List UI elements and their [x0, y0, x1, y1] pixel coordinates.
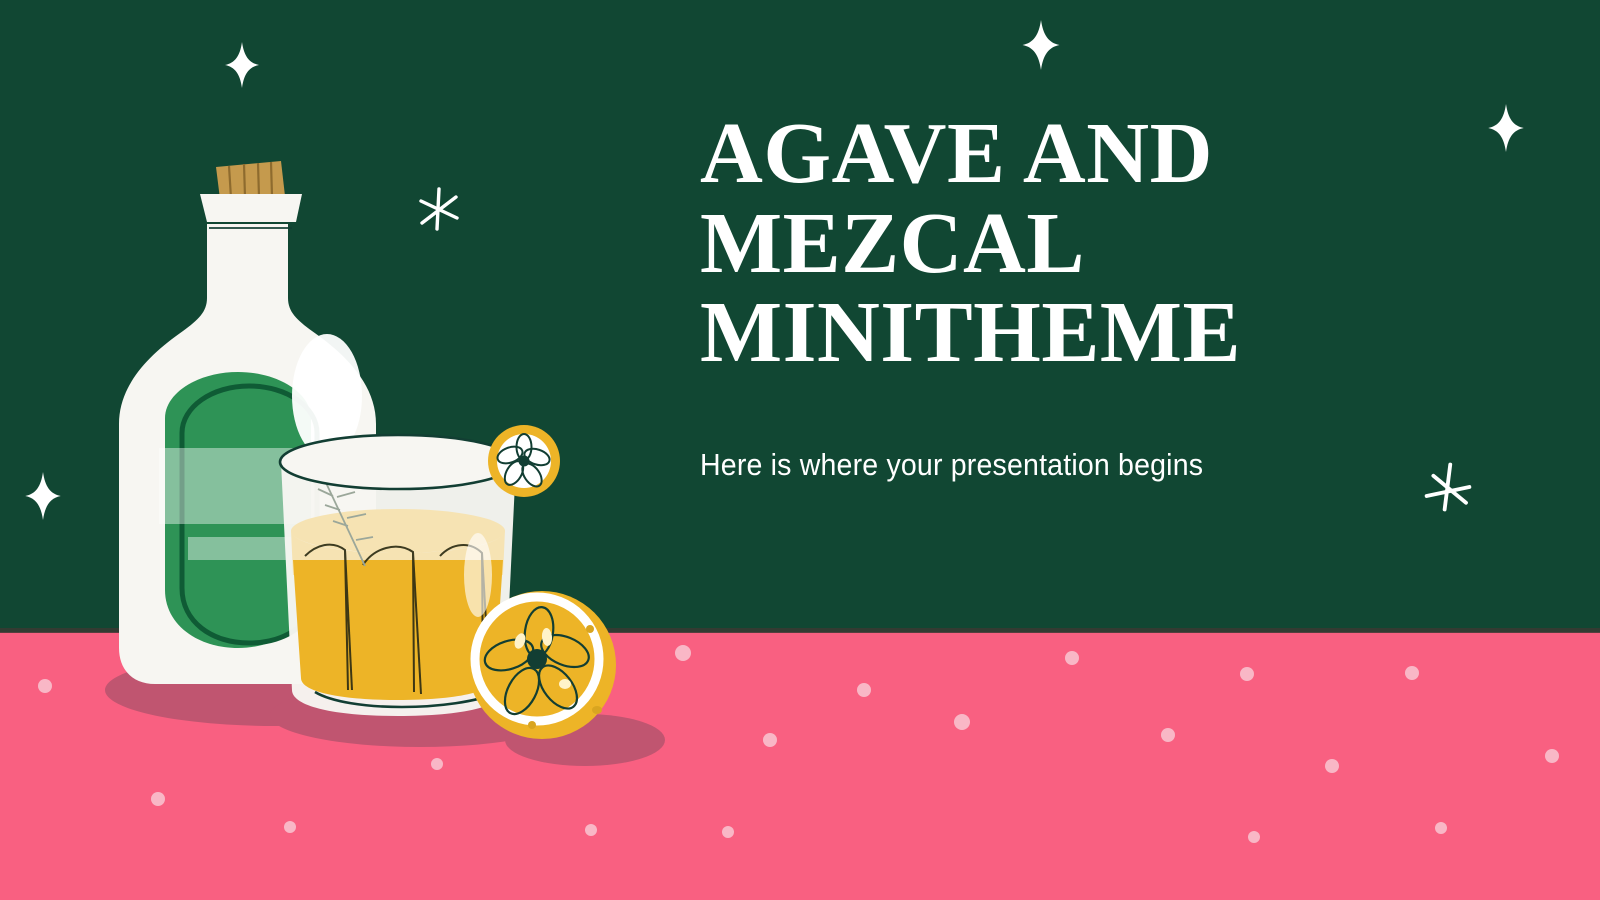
floor-edge-line: [0, 628, 1600, 633]
title-text-block: AGAVE AND MEZCAL MINITHEME Here is where…: [700, 108, 1340, 483]
subtitle: Here is where your presentation begins: [700, 377, 1289, 483]
presentation-slide: AGAVE AND MEZCAL MINITHEME Here is where…: [0, 0, 1600, 900]
page-title: AGAVE AND MEZCAL MINITHEME: [700, 108, 1340, 377]
background-pink-floor: [0, 632, 1600, 900]
diamond-sparkle-icon: [225, 42, 259, 88]
asterisk-sparkle-icon: [415, 185, 463, 233]
diamond-sparkle-icon: [1488, 104, 1524, 152]
diamond-sparkle-icon: [1022, 20, 1060, 70]
asterisk-sparkle-icon: [1421, 460, 1475, 514]
title-line-1: AGAVE AND: [700, 104, 1213, 201]
title-line-3: MINITHEME: [700, 283, 1241, 380]
title-line-2: MEZCAL: [700, 194, 1085, 291]
diamond-sparkle-icon: [25, 472, 61, 520]
